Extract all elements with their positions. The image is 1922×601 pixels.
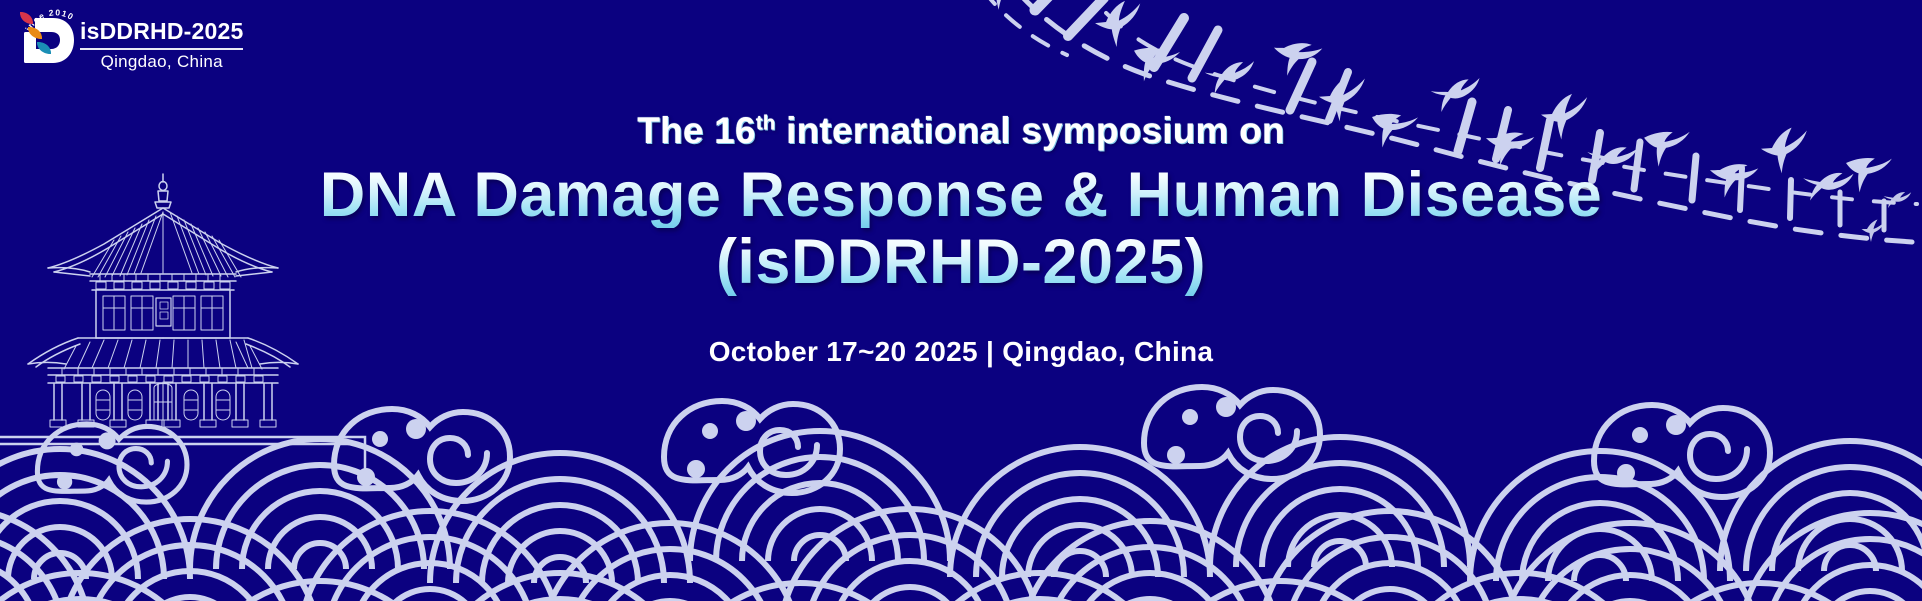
title-line-1: DNA Damage Response & Human Disease	[0, 163, 1922, 229]
logo-acronym-prefix: is	[80, 18, 100, 44]
logo-acronym: isDDRHD-2025	[80, 20, 243, 43]
logo-divider	[80, 48, 243, 50]
headline-block: The 16th international symposium on DNA …	[0, 110, 1922, 368]
superline-suffix: international symposium on	[776, 110, 1285, 151]
logo-acronym-main: DDRHD-2025	[100, 18, 244, 44]
title-line-2: (isDDRHD-2025)	[0, 230, 1922, 296]
superline: The 16th international symposium on	[0, 110, 1922, 153]
wave-pattern-decoration	[0, 361, 1922, 601]
logo-mark: since 2010	[8, 2, 82, 78]
superline-ordinal: th	[756, 112, 776, 135]
conference-logo[interactable]: since 2010 isDDRH	[8, 2, 238, 78]
logo-location: Qingdao, China	[80, 53, 243, 72]
superline-prefix: The 16	[637, 110, 755, 151]
conference-banner: since 2010 isDDRH	[0, 0, 1922, 601]
